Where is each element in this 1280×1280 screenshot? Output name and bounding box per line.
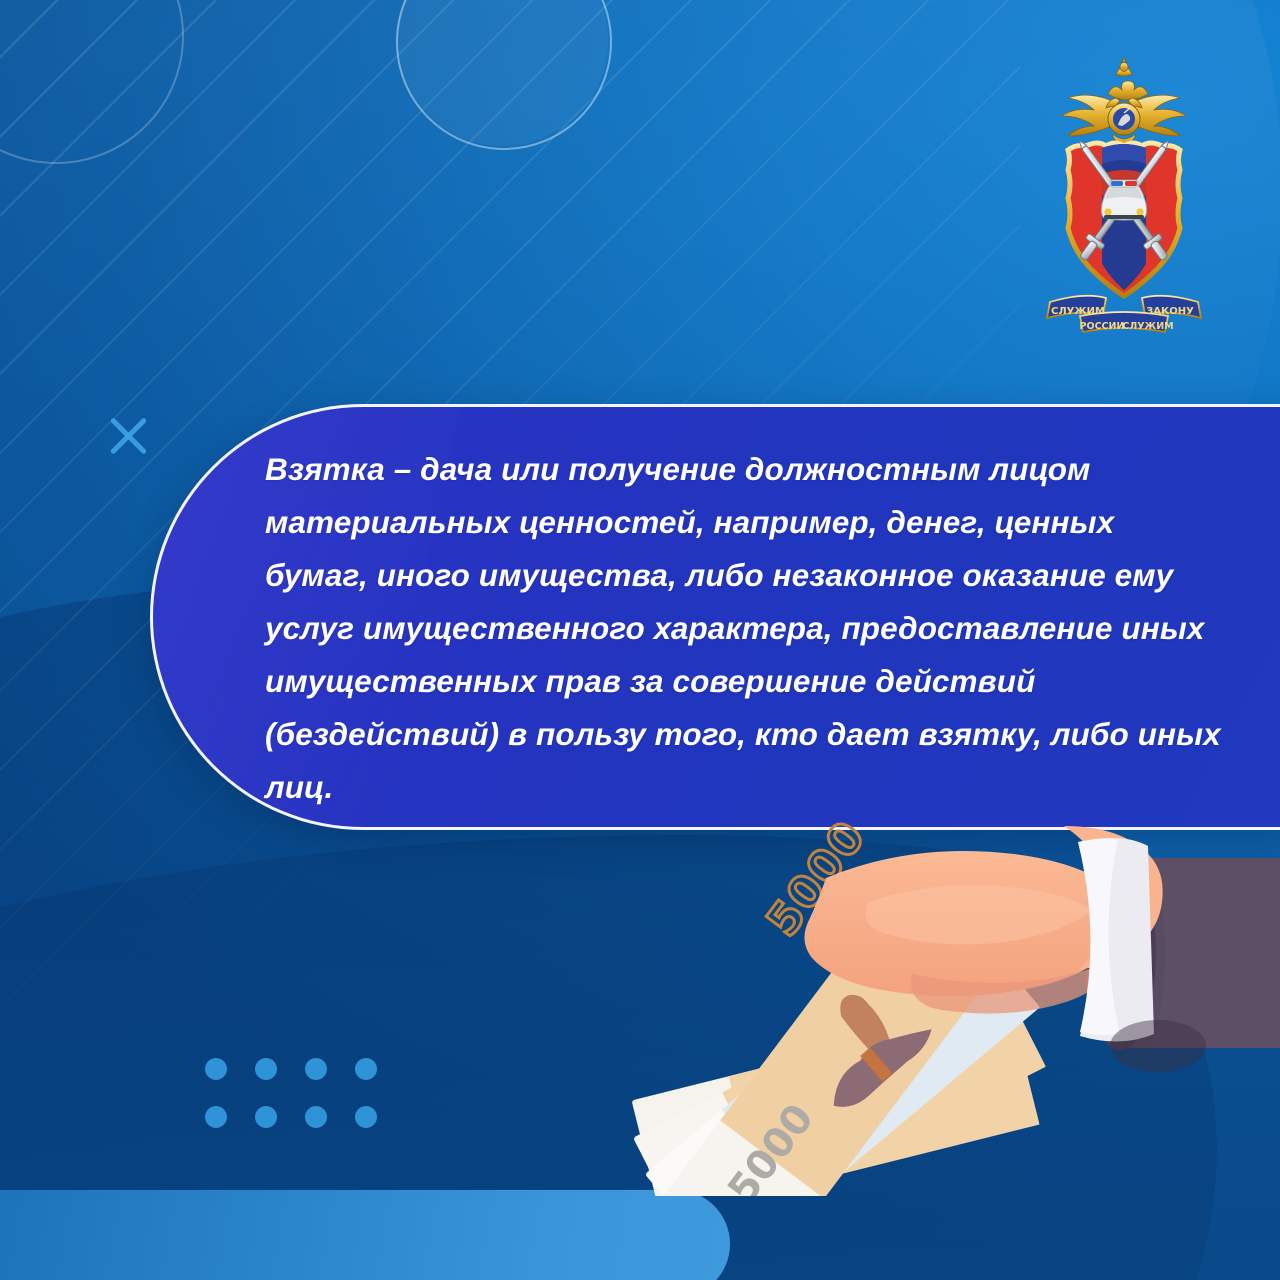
definition-text: Взятка – дача или получение должностным … xyxy=(265,443,1225,814)
dot xyxy=(305,1106,327,1128)
dot xyxy=(205,1106,227,1128)
bottom-accent-band xyxy=(0,1190,730,1280)
ribbon-text-bottom-left: РОССИИ xyxy=(1080,321,1125,332)
dot xyxy=(255,1106,277,1128)
poster-root: СЛУЖИМ ЗАКОНУ РОССИИ СЛУЖИМ Взятка – дач… xyxy=(0,0,1280,1280)
ribbon-text-top-left: СЛУЖИМ xyxy=(1051,306,1105,317)
dot xyxy=(355,1058,377,1080)
x-mark-icon xyxy=(104,412,152,460)
decor-circle-outline-2 xyxy=(396,0,612,150)
dot-grid-decoration xyxy=(205,1058,377,1128)
dot xyxy=(255,1058,277,1080)
mvd-emblem-icon: СЛУЖИМ ЗАКОНУ РОССИИ СЛУЖИМ xyxy=(1024,52,1224,342)
ribbon-text-top-right: ЗАКОНУ xyxy=(1146,306,1194,317)
hand-holding-banknotes-illustration: 5000 5000 1000 5000 xyxy=(612,796,1280,1196)
dot xyxy=(205,1058,227,1080)
definition-panel: Взятка – дача или получение должностным … xyxy=(150,404,1280,830)
dot xyxy=(305,1058,327,1080)
ribbon-text-bottom-right: СЛУЖИМ xyxy=(1122,321,1173,332)
decor-circle-outline-1 xyxy=(0,0,184,164)
dot xyxy=(355,1106,377,1128)
decor-circle-fill-2 xyxy=(396,0,608,146)
